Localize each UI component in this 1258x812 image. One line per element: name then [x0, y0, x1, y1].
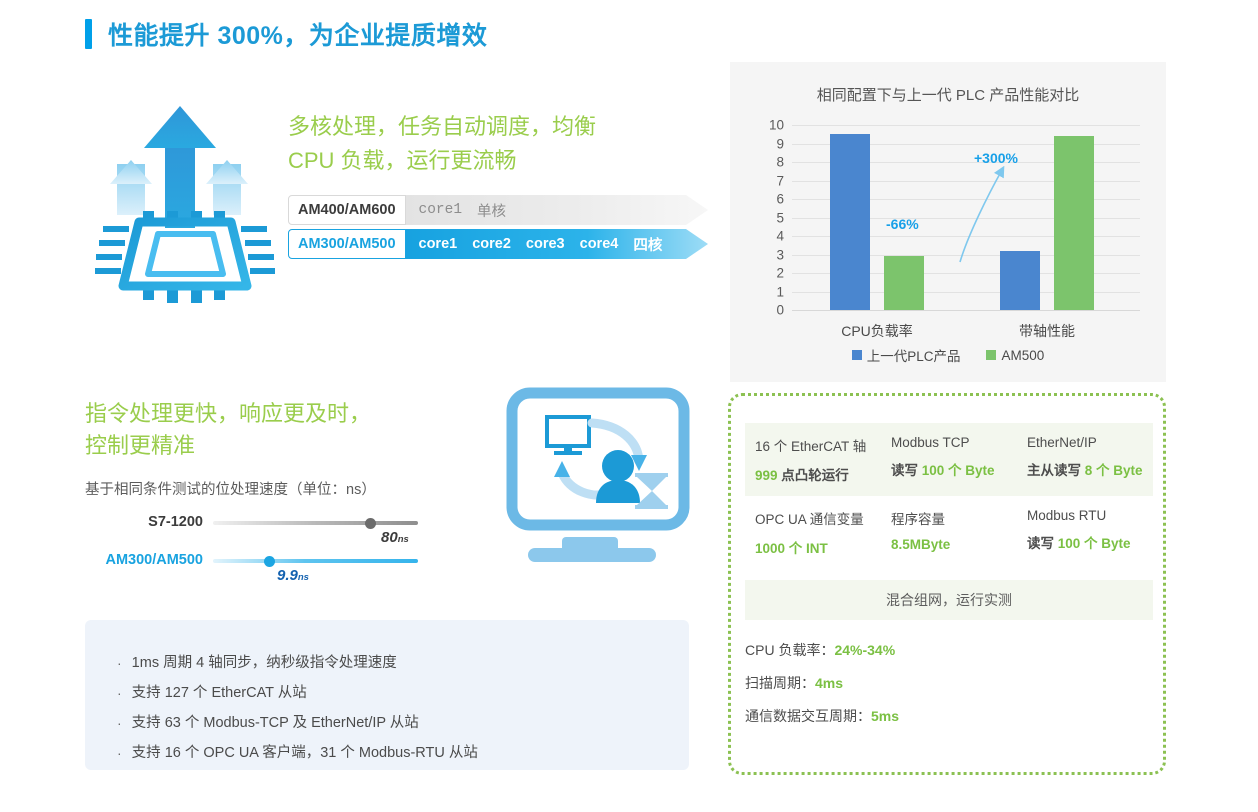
list-item: ·支持 127 个 EtherCAT 从站	[117, 678, 478, 708]
page-header: 性能提升 300%，为企业提质增效	[85, 16, 487, 52]
spec-cell: Modbus RTU 读写 100 个 Byte	[1017, 496, 1153, 569]
core-comparison: AM400/AM600 core1 单核 AM300/AM500 core1 c…	[288, 195, 708, 263]
spec-measure-value: 24%-34%	[834, 642, 895, 658]
bullet-dot-icon: ·	[117, 738, 122, 768]
slider-row-s7: S7-1200 80ns	[85, 505, 435, 543]
y-tick: 0	[776, 303, 784, 318]
speed-sliders: S7-1200 80ns AM300/AM500 9.9ns	[85, 505, 435, 581]
speed-subtitle: 基于相同条件测试的位处理速度（单位：ns）	[85, 478, 376, 499]
core-label: core1	[419, 202, 463, 218]
list-item-text: 支持 127 个 EtherCAT 从站	[132, 678, 307, 708]
performance-chart-panel: 相同配置下与上一代 PLC 产品性能对比 10 9 8 7 6 5 4 3 2 …	[730, 62, 1166, 382]
spec-value: 8.5MByte	[891, 537, 1015, 552]
spec-value: 1000 个 INT	[755, 537, 879, 557]
slider-label: AM300/AM500	[85, 552, 203, 568]
spec-summary-box: 16 个 EtherCAT 轴 999 点凸轮运行 Modbus TCP 读写 …	[728, 393, 1166, 775]
legend-label: AM500	[1001, 348, 1044, 363]
list-item-text: 1ms 周期 4 轴同步，纳秒级指令处理速度	[132, 648, 397, 678]
legend-swatch-blue	[852, 350, 862, 360]
core-row-bar: core1 单核	[406, 195, 708, 225]
spec-grid: 16 个 EtherCAT 轴 999 点凸轮运行 Modbus TCP 读写 …	[745, 423, 1153, 569]
spec-value: 读写 100 个 Byte	[891, 459, 1015, 479]
chart-plot-area: 10 9 8 7 6 5 4 3 2 1 0 -66% +300%	[792, 125, 1140, 310]
slider-knob[interactable]	[264, 556, 275, 567]
spec-key: Modbus RTU	[1027, 508, 1151, 523]
spec-measurements: CPU 负载率：24%-34% 扫描周期：4ms 通信数据交互周期：5ms	[745, 634, 899, 733]
spec-value: 主从读写 8 个 Byte	[1027, 459, 1151, 479]
slider-label: S7-1200	[85, 514, 203, 530]
chart-title: 相同配置下与上一代 PLC 产品性能对比	[730, 84, 1166, 105]
legend-item-prev: 上一代PLC产品	[852, 345, 961, 365]
spec-key: 16 个 EtherCAT 轴	[755, 435, 879, 455]
multicore-heading-line2: CPU 负载，运行更流畅	[288, 144, 688, 178]
title-accent-bar	[85, 19, 92, 49]
bullet-dot-icon: ·	[117, 678, 122, 708]
legend-swatch-green	[986, 350, 996, 360]
legend-label: 上一代PLC产品	[867, 345, 961, 365]
spec-measure-label: CPU 负载率：	[745, 642, 834, 658]
spec-cell: EtherNet/IP 主从读写 8 个 Byte	[1017, 423, 1153, 496]
spec-measure-row: CPU 负载率：24%-34%	[745, 634, 899, 667]
spec-cell: Modbus TCP 读写 100 个 Byte	[881, 423, 1017, 496]
x-tick-label: CPU负载率	[802, 321, 952, 341]
chart-legend: 上一代PLC产品 AM500	[730, 345, 1166, 365]
y-tick: 9	[776, 136, 784, 151]
slide-root: 性能提升 300%，为企业提质增效	[0, 0, 1258, 812]
spec-measure-label: 通信数据交互周期：	[745, 708, 871, 724]
spec-cell: 16 个 EtherCAT 轴 999 点凸轮运行	[745, 423, 881, 496]
spec-key: Modbus TCP	[891, 435, 1015, 450]
core-label: core2	[472, 236, 511, 252]
list-item: ·1ms 周期 4 轴同步，纳秒级指令处理速度	[117, 648, 478, 678]
spec-value: 读写 100 个 Byte	[1027, 532, 1151, 552]
core-label: core3	[526, 236, 565, 252]
multicore-heading-line1: 多核处理，任务自动调度，均衡	[288, 110, 688, 144]
feature-bullet-list: ·1ms 周期 4 轴同步，纳秒级指令处理速度 ·支持 127 个 EtherC…	[117, 648, 478, 768]
y-tick: 10	[769, 118, 784, 133]
spec-measure-label: 扫描周期：	[745, 675, 815, 691]
spec-cell: 程序容量 8.5MByte	[881, 496, 1017, 569]
core-label: core1	[419, 236, 458, 252]
spec-cell: OPC UA 通信变量 1000 个 INT	[745, 496, 881, 569]
bar-am500-axis	[1054, 136, 1094, 310]
feature-bullet-box: ·1ms 周期 4 轴同步，纳秒级指令处理速度 ·支持 127 个 EtherC…	[85, 620, 689, 770]
annotation-plus-300: +300%	[974, 150, 1018, 166]
spec-key: OPC UA 通信变量	[755, 508, 879, 528]
bar-prev-axis	[1000, 251, 1040, 310]
list-item: ·支持 16 个 OPC UA 客户端，31 个 Modbus-RTU 从站	[117, 738, 478, 768]
slider-value: 9.9ns	[277, 567, 309, 584]
y-tick: 3	[776, 247, 784, 262]
spec-key: EtherNet/IP	[1027, 435, 1151, 450]
slider-track[interactable]	[213, 559, 418, 563]
y-tick: 6	[776, 192, 784, 207]
y-tick: 2	[776, 266, 784, 281]
slider-track[interactable]	[213, 521, 418, 525]
cpu-chip-arrows-icon	[95, 100, 275, 312]
list-item-text: 支持 63 个 Modbus-TCP 及 EtherNet/IP 从站	[132, 708, 419, 738]
bullet-dot-icon: ·	[117, 708, 122, 738]
legend-item-am500: AM500	[986, 345, 1044, 365]
spec-measure-value: 4ms	[815, 675, 843, 691]
multicore-heading: 多核处理，任务自动调度，均衡 CPU 负载，运行更流畅	[288, 110, 688, 178]
spec-measure-row: 扫描周期：4ms	[745, 667, 899, 700]
speed-heading: 指令处理更快，响应更及时， 控制更精准	[85, 398, 505, 462]
slider-knob[interactable]	[365, 518, 376, 529]
speed-heading-line2: 控制更精准	[85, 430, 505, 462]
bar-am500-cpu	[884, 256, 924, 310]
bullet-dot-icon: ·	[117, 648, 122, 678]
y-tick: 7	[776, 173, 784, 188]
x-tick-label: 带轴性能	[972, 321, 1122, 341]
spec-banner: 混合组网，运行实测	[745, 580, 1153, 620]
speed-heading-line1: 指令处理更快，响应更及时，	[85, 398, 505, 430]
core-count-note: 四核	[633, 234, 662, 255]
y-tick: 4	[776, 229, 784, 244]
slider-row-am300: AM300/AM500 9.9ns	[85, 543, 435, 581]
y-tick: 8	[776, 155, 784, 170]
core-row-bar: core1 core2 core3 core4 四核	[406, 229, 708, 259]
core-row-tag: AM400/AM600	[288, 195, 406, 225]
y-tick: 5	[776, 210, 784, 225]
list-item: ·支持 63 个 Modbus-TCP 及 EtherNet/IP 从站	[117, 708, 478, 738]
monitor-cycle-person-icon	[500, 385, 710, 575]
core-label: core4	[580, 236, 619, 252]
annotation-minus-66: -66%	[886, 216, 919, 232]
list-item-text: 支持 16 个 OPC UA 客户端，31 个 Modbus-RTU 从站	[132, 738, 478, 768]
bar-prev-cpu	[830, 134, 870, 310]
core-row-am300: AM300/AM500 core1 core2 core3 core4 四核	[288, 229, 708, 259]
spec-key: 程序容量	[891, 508, 1015, 528]
core-count-note: 单核	[477, 200, 506, 221]
y-tick: 1	[776, 284, 784, 299]
spec-measure-value: 5ms	[871, 708, 899, 724]
page-title: 性能提升 300%，为企业提质增效	[108, 16, 487, 52]
core-row-tag: AM300/AM500	[288, 229, 406, 259]
core-row-am400: AM400/AM600 core1 单核	[288, 195, 708, 225]
spec-measure-row: 通信数据交互周期：5ms	[745, 700, 899, 733]
spec-value: 999 点凸轮运行	[755, 464, 879, 484]
